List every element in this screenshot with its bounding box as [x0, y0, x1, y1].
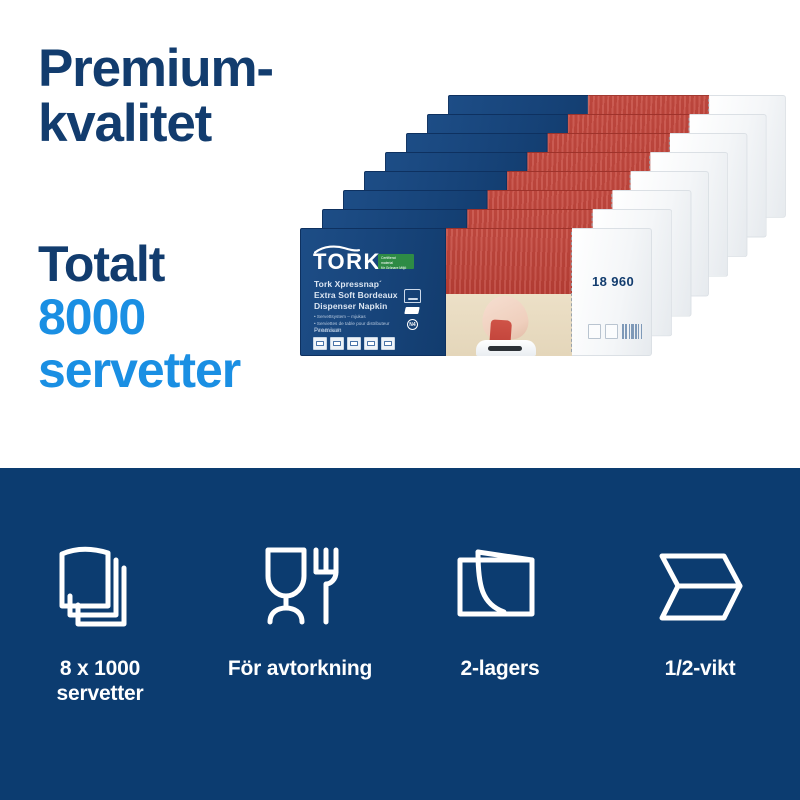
half-fold-icon — [652, 542, 748, 634]
feature-item-ply: 2-lagers — [400, 468, 600, 681]
dispenser-icon — [404, 289, 421, 303]
feature-list: 8 x 1000 servetter För avtorkning — [0, 468, 800, 800]
package-feature-icon — [364, 337, 378, 350]
two-ply-sheet-icon — [452, 542, 548, 634]
stacked-napkins-icon — [52, 542, 148, 634]
quantity-block: Totalt 8000 servetter — [38, 238, 240, 397]
feature-item-napkin-count: 8 x 1000 servetter — [0, 468, 200, 706]
package-product-name: Tork Xpressnap´ Extra Soft Bordeaux Disp… — [314, 279, 398, 313]
page-title: Premium- kvalitet — [38, 41, 273, 151]
disposal-icon — [605, 324, 618, 339]
feature-bar: 8 x 1000 servetter För avtorkning — [0, 468, 800, 800]
eco-badge: Certifierat material för Grönare Miljö — [378, 254, 414, 269]
product-package-front: TORK Certifierat material för Grönare Mi… — [300, 228, 652, 356]
feature-label: För avtorkning — [210, 656, 390, 681]
package-tier: Premium — [314, 328, 342, 334]
feature-label: 1/2-vikt — [610, 656, 790, 681]
package-feature-icon — [381, 337, 395, 350]
article-code: 18 960 — [592, 274, 634, 289]
feature-label: 8 x 1000 servetter — [10, 656, 190, 706]
eco-badge-text: Certifierat material för Grönare Miljö — [378, 254, 414, 271]
feature-item-use: För avtorkning — [200, 468, 400, 681]
package-feature-icon — [313, 337, 327, 350]
package-feature-icon — [347, 337, 361, 350]
napkin-icon — [404, 307, 419, 314]
recycle-icon — [588, 324, 601, 339]
quantity-number: 8000 — [38, 291, 240, 344]
quantity-label: Totalt — [38, 238, 240, 291]
n4-badge: N4 — [407, 319, 418, 330]
package-icon-row — [313, 337, 395, 350]
package-front-panel: TORK Certifierat material för Grönare Mi… — [300, 228, 446, 356]
glass-and-fork-icon — [252, 542, 348, 634]
package-photo — [446, 294, 572, 356]
tork-logo: TORK — [313, 251, 381, 273]
package-marks — [588, 324, 642, 339]
product-stack: 18 960 18 960 18 960 18 960 — [300, 95, 800, 357]
barcode-icon — [622, 324, 642, 339]
dispenser-slot — [488, 346, 522, 351]
hero-section: Premium- kvalitet Totalt 8000 servetter … — [0, 0, 800, 468]
feature-label: 2-lagers — [410, 656, 590, 681]
package-seam — [571, 232, 572, 352]
feature-item-fold: 1/2-vikt — [600, 468, 800, 681]
quantity-unit: servetter — [38, 344, 240, 397]
package-feature-icon — [330, 337, 344, 350]
